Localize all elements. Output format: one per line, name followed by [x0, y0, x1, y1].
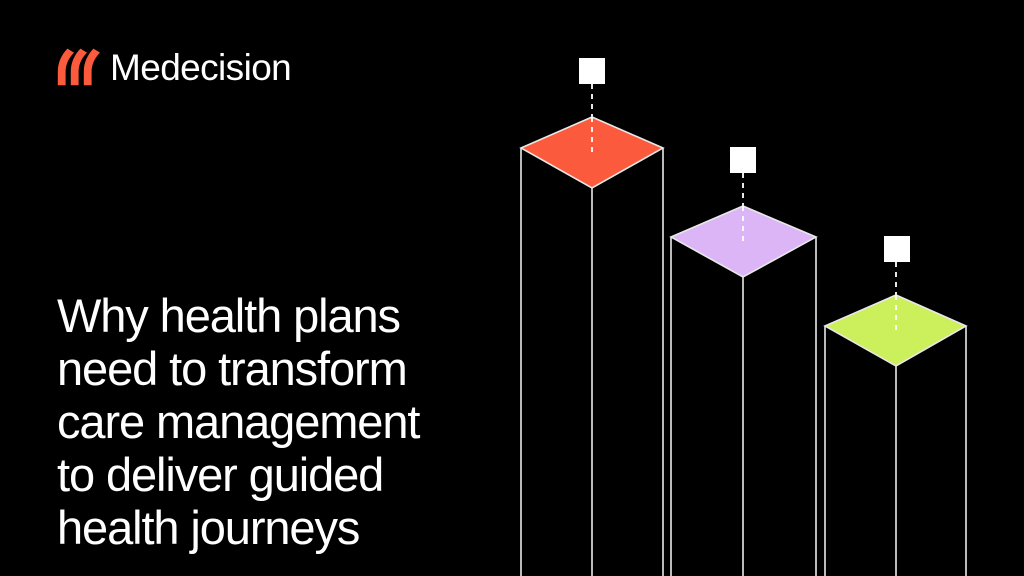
chart-bar — [825, 236, 966, 576]
medecision-flame-mark-icon — [57, 48, 101, 86]
bar-column-edges — [521, 148, 663, 576]
bar-column-edges — [671, 237, 816, 576]
headline-line-2: need to transform — [57, 342, 497, 395]
bar-top-diamond — [671, 206, 816, 277]
headline-line-5: health journeys — [57, 501, 497, 554]
bar-marker-square — [730, 147, 756, 173]
brand-name: Medecision — [110, 49, 291, 86]
page-title: Why health plans need to transform care … — [57, 289, 497, 554]
headline-line-3: care management — [57, 395, 497, 448]
bar-column-edges — [825, 326, 966, 576]
brand-lockup: Medecision — [57, 44, 291, 90]
headline-line-1: Why health plans — [57, 289, 497, 342]
chart-bar — [671, 147, 816, 576]
bar-marker-square — [884, 236, 910, 262]
slide-canvas: Medecision Why health plans need to tran… — [0, 0, 1024, 576]
bar-top-diamond — [521, 117, 663, 188]
bar-top-diamond — [825, 295, 966, 366]
bar-marker-square — [579, 58, 605, 84]
chart-bar — [521, 58, 663, 576]
headline-line-4: to deliver guided — [57, 448, 497, 501]
